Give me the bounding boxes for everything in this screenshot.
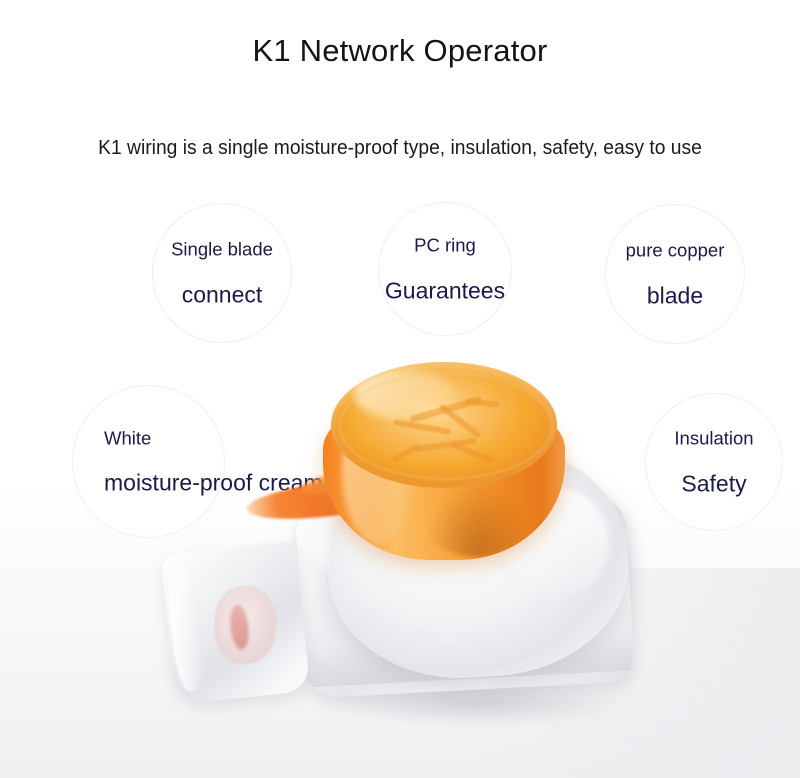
badge-line1: PC ring: [414, 236, 476, 255]
page-title: K1 Network Operator: [0, 33, 800, 69]
page-subtitle: K1 wiring is a single moisture-proof typ…: [24, 136, 776, 160]
badge-pc-ring-guarantees: PC ring Guarantees: [378, 202, 512, 336]
cap-side-shade: [425, 483, 531, 557]
wire-entry-tube: [161, 541, 311, 704]
badge-line2: blade: [647, 284, 703, 307]
badge-single-blade-connect: Single blade connect: [152, 203, 292, 343]
badge-line1: White: [104, 429, 151, 448]
badge-line2: Safety: [681, 472, 746, 495]
badge-line2: connect: [182, 283, 263, 306]
product-photo: [150, 350, 650, 750]
badge-line1: Insulation: [674, 429, 753, 448]
orange-press-cap: [323, 362, 565, 562]
badge-line1: Single blade: [171, 240, 273, 259]
infographic-canvas: K1 Network Operator K1 wiring is a singl…: [0, 0, 800, 778]
badge-line2: Guarantees: [385, 279, 505, 302]
badge-line1: pure copper: [626, 241, 725, 260]
badge-pure-copper-blade: pure copper blade: [605, 204, 745, 344]
badge-insulation-safety: Insulation Safety: [645, 393, 783, 531]
tube-rim-highlight: [164, 564, 207, 692]
cap-top-ring: [339, 372, 553, 480]
